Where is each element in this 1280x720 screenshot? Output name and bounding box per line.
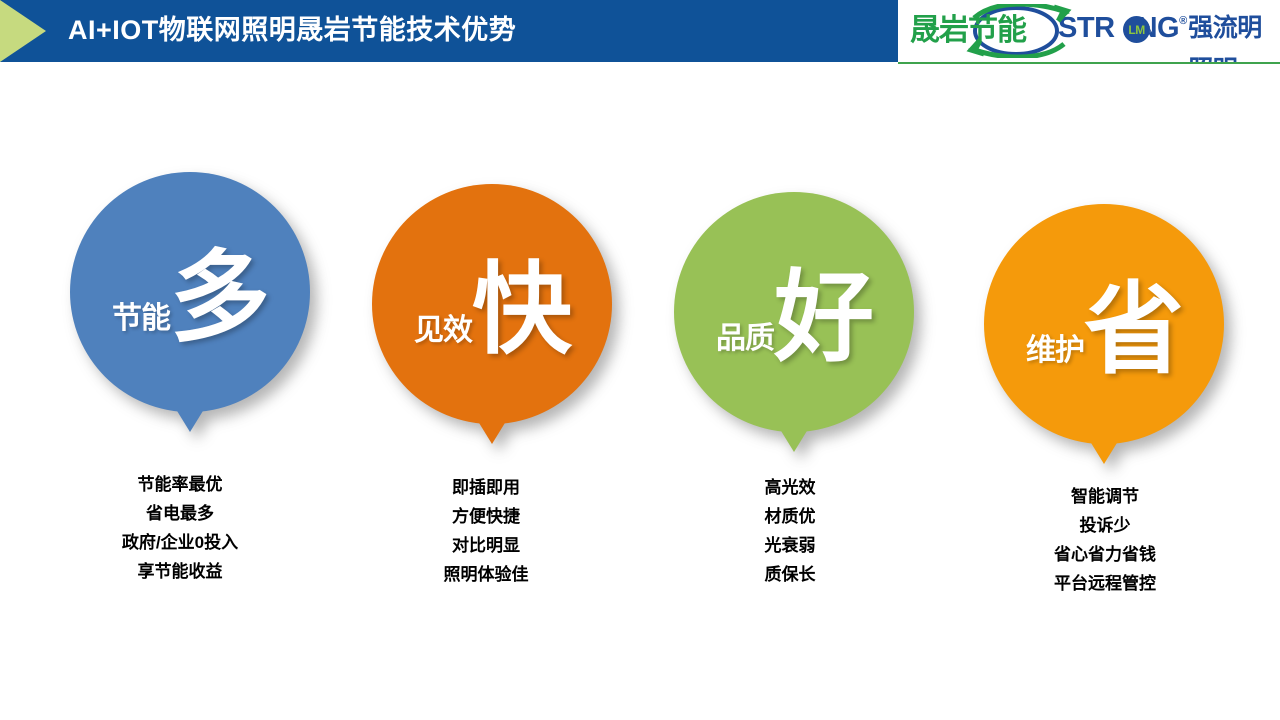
list-item: 省电最多: [122, 499, 238, 528]
logo-slogan: 强流明照明: [1188, 7, 1280, 64]
list-item: 投诉少: [1054, 511, 1156, 540]
logo-brand-name: STRONG LM: [1058, 7, 1179, 49]
list-item: 省心省力省钱: [1054, 540, 1156, 569]
logo-lm-badge: LM: [1123, 16, 1150, 43]
logo-chinese-name: 晟岩节能: [910, 15, 1026, 47]
bubble-big-label-4: 省: [1084, 280, 1182, 380]
list-item: 光衰弱: [765, 531, 816, 560]
bullet-list-2: 即插即用 方便快捷 对比明显 照明体验佳: [444, 473, 529, 589]
list-item: 高光效: [765, 473, 816, 502]
bubble-low-maintenance[interactable]: 维护 省: [984, 204, 1224, 444]
logo-chinese-lockup: 晟岩节能: [908, 4, 1052, 58]
bubble-label-4: 维护 省: [1026, 280, 1182, 380]
list-item: 政府/企业0投入: [122, 528, 238, 557]
logo-english-lockup: STRONG LM ® 强流明照明: [1058, 7, 1280, 55]
registered-trademark-icon: ®: [1179, 11, 1187, 31]
list-item: 平台远程管控: [1054, 569, 1156, 598]
bubble-big-label-3: 好: [774, 268, 872, 368]
slide-header: AI+IOT物联网照明晟岩节能技术优势 晟岩节能 STRONG: [0, 0, 1280, 62]
list-item: 节能率最优: [122, 470, 238, 499]
list-item: 对比明显: [444, 531, 529, 560]
bubble-small-label-4: 维护: [1026, 336, 1084, 366]
bubble-wrap-3: 品质 好: [674, 192, 914, 457]
bubble-wrap-2: 见效 快: [372, 184, 612, 449]
company-logo: 晟岩节能 STRONG LM ® 强流明照明: [898, 0, 1280, 64]
bubble-big-label-1: 多: [170, 248, 268, 348]
bubble-small-label-3: 品质: [716, 324, 774, 354]
bubble-big-label-2: 快: [472, 260, 570, 360]
bubble-label-2: 见效 快: [414, 260, 570, 360]
advantage-column-low-maintenance: 维护 省 智能调节 投诉少 省心省力省钱 平台远程管控: [940, 172, 1240, 586]
bullet-list-1: 节能率最优 省电最多 政府/企业0投入 享节能收益: [122, 470, 238, 586]
bullet-list-4: 智能调节 投诉少 省心省力省钱 平台远程管控: [1054, 482, 1156, 598]
list-item: 即插即用: [444, 473, 529, 502]
bubble-small-label-2: 见效: [414, 316, 472, 346]
advantage-column-energy-saving: 节能 多 节能率最优 省电最多 政府/企业0投入 享节能收益: [40, 172, 340, 586]
bubble-small-label-1: 节能: [112, 304, 170, 334]
bullet-list-3: 高光效 材质优 光衰弱 质保长: [765, 473, 816, 589]
list-item: 材质优: [765, 502, 816, 531]
bubble-energy-saving[interactable]: 节能 多: [70, 172, 310, 412]
bubble-wrap-1: 节能 多: [70, 172, 310, 437]
bubble-wrap-4: 维护 省: [984, 204, 1224, 469]
bubble-fast-results[interactable]: 见效 快: [372, 184, 612, 424]
advantage-columns: 节能 多 节能率最优 省电最多 政府/企业0投入 享节能收益 见效 快: [40, 172, 1240, 586]
bubble-good-quality[interactable]: 品质 好: [674, 192, 914, 432]
list-item: 质保长: [765, 560, 816, 589]
list-item: 享节能收益: [122, 557, 238, 586]
bubble-label-1: 节能 多: [112, 248, 268, 348]
advantage-column-good-quality: 品质 好 高光效 材质优 光衰弱 质保长: [640, 172, 940, 586]
advantage-column-fast-results: 见效 快 即插即用 方便快捷 对比明显 照明体验佳: [340, 172, 640, 586]
slide-body: 节能 多 节能率最优 省电最多 政府/企业0投入 享节能收益 见效 快: [0, 62, 1280, 720]
list-item: 照明体验佳: [444, 560, 529, 589]
page-title: AI+IOT物联网照明晟岩节能技术优势: [68, 0, 516, 62]
bubble-label-3: 品质 好: [716, 268, 872, 368]
list-item: 方便快捷: [444, 502, 529, 531]
list-item: 智能调节: [1054, 482, 1156, 511]
